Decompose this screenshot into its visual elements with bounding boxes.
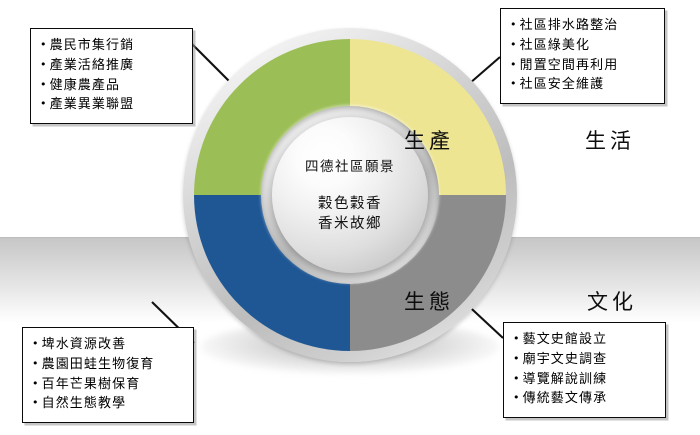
hub-slogan-line-1: 穀色穀香 (318, 195, 382, 215)
callout-item: 產業異業聯盟 (40, 95, 182, 115)
callout-item: 社區安全維護 (510, 75, 654, 95)
callout-item: 健康農產品 (40, 76, 182, 96)
callout-item: 自然生態教學 (32, 394, 183, 414)
callout-list-culture: 藝文史館設立廟宇文史調查導覽解說訓練傳統藝文傳承 (513, 330, 655, 409)
hub-title: 四德社區願景 (305, 155, 395, 175)
callout-production: 農民市集行銷產業活絡推廣健康農產品產業異業聯盟 (30, 28, 193, 124)
callout-item: 農園田蛙生物復育 (32, 355, 183, 375)
callout-list-production: 農民市集行銷產業活絡推廣健康農產品產業異業聯盟 (40, 36, 182, 115)
vision-wheel: 四德社區願景 穀色穀香 香米故鄉 生產 生活 生態 文化 (183, 28, 517, 362)
callout-item: 埤水資源改善 (32, 335, 183, 355)
callout-item: 產業活絡推廣 (40, 56, 182, 76)
quadrant-label-culture: 文化 (587, 286, 637, 316)
diagram-canvas: 四德社區願景 穀色穀香 香米故鄉 生產 生活 生態 文化 農民市集行銷產業活絡推… (0, 0, 700, 435)
callout-item: 傳統藝文傳承 (513, 389, 655, 409)
callout-list-ecology: 埤水資源改善農園田蛙生物復育百年芒果樹保育自然生態教學 (32, 335, 183, 414)
callout-living: 社區排水路整治社區綠美化閒置空間再利用社區安全維護 (500, 8, 665, 104)
quadrant-label-ecology: 生態 (404, 286, 454, 316)
callout-item: 社區排水路整治 (510, 16, 654, 36)
callout-culture: 藝文史館設立廟宇文史調查導覽解說訓練傳統藝文傳承 (503, 322, 666, 418)
hub-slogan: 穀色穀香 香米故鄉 (318, 195, 382, 234)
callout-item: 導覽解說訓練 (513, 370, 655, 390)
callout-ecology: 埤水資源改善農園田蛙生物復育百年芒果樹保育自然生態教學 (22, 327, 194, 423)
callout-list-living: 社區排水路整治社區綠美化閒置空間再利用社區安全維護 (510, 16, 654, 95)
callout-item: 社區綠美化 (510, 36, 654, 56)
callout-item: 廟宇文史調查 (513, 350, 655, 370)
callout-item: 閒置空間再利用 (510, 56, 654, 76)
callout-item: 農民市集行銷 (40, 36, 182, 56)
hub-slogan-line-2: 香米故鄉 (318, 215, 382, 235)
callout-item: 藝文史館設立 (513, 330, 655, 350)
quadrant-label-production: 生產 (404, 125, 454, 155)
callout-item: 百年芒果樹保育 (32, 375, 183, 395)
quadrant-label-living: 生活 (585, 125, 635, 155)
